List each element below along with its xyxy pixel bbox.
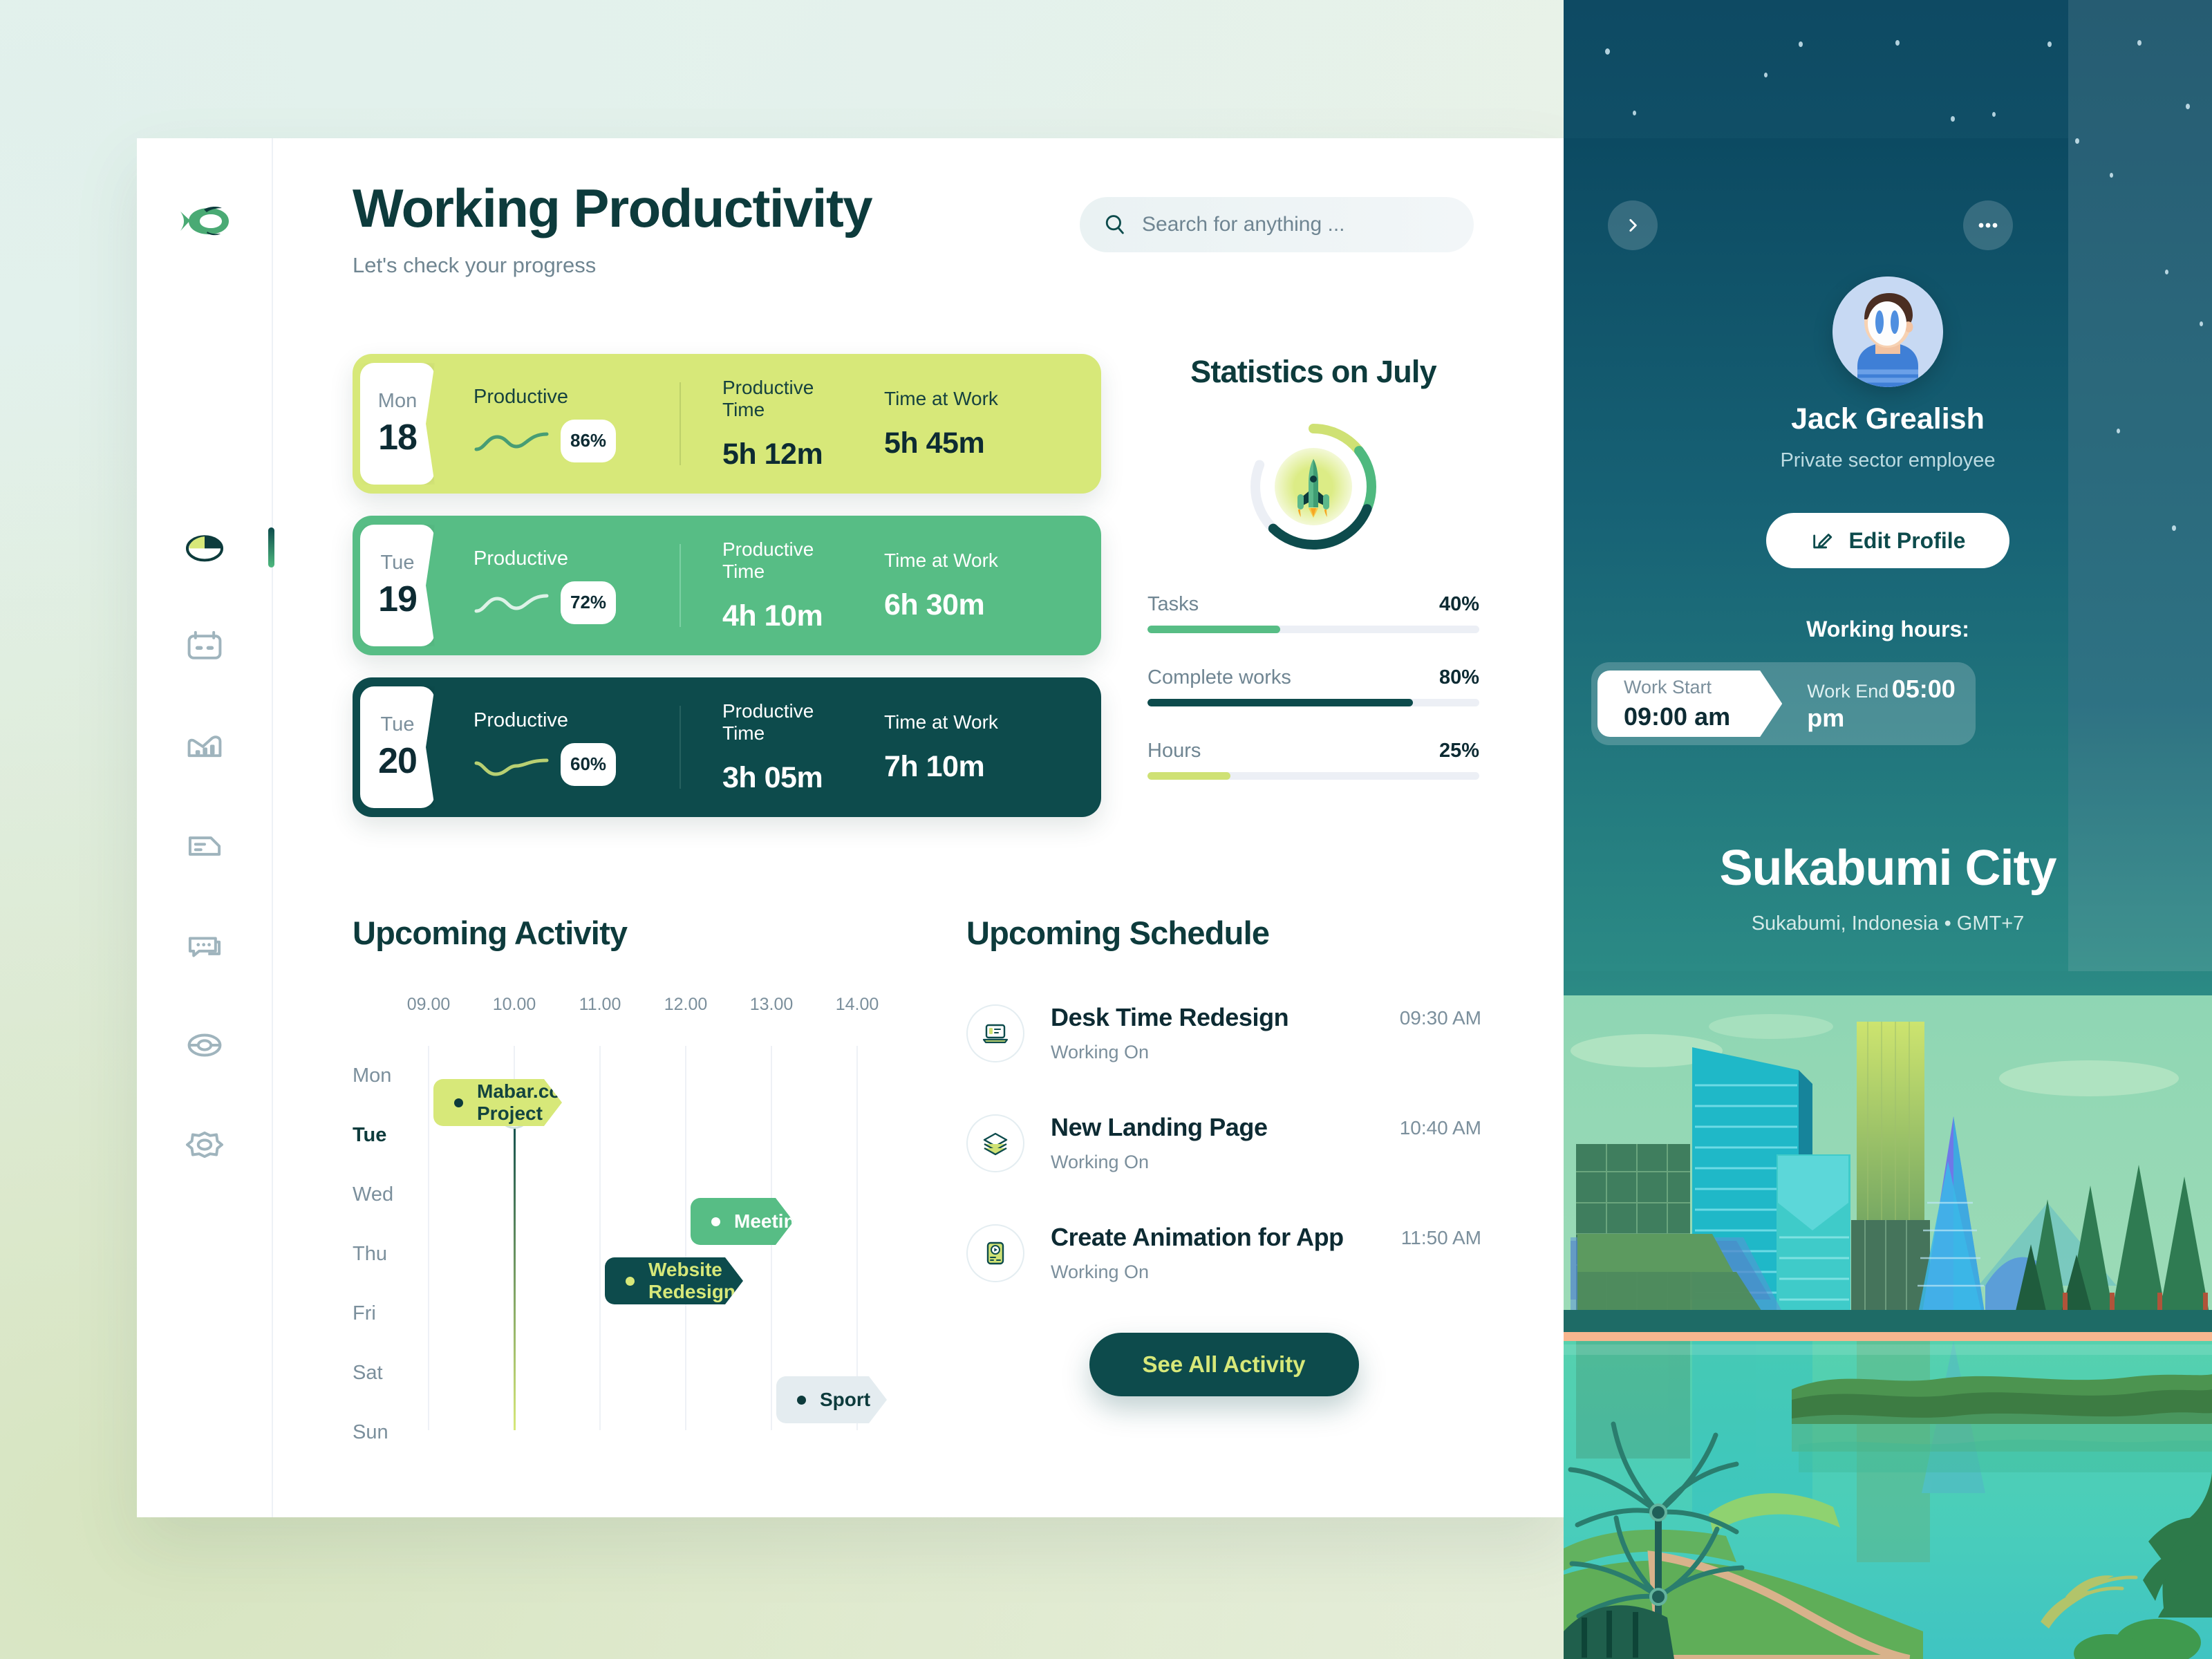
- progress-track: [1147, 699, 1479, 706]
- productive-percent: 72%: [561, 581, 616, 624]
- rocket-icon: [1288, 456, 1339, 518]
- profile-role: Private sector employee: [1564, 449, 2212, 472]
- page-header: Working Productivity Let's check your pr…: [353, 181, 872, 278]
- schedule-item-time: 10:40 AM: [1400, 1117, 1481, 1139]
- fish-logo[interactable]: [179, 202, 230, 244]
- activity-title: Upcoming Activity: [353, 914, 975, 952]
- search-placeholder: Search for anything ...: [1142, 213, 1345, 236]
- profile-name: Jack Grealish: [1564, 402, 2212, 436]
- stat-bar-percent: 25%: [1439, 740, 1479, 762]
- timeline-day: Fri: [353, 1284, 422, 1343]
- card-divider: [679, 544, 681, 627]
- event-dot: [711, 1217, 720, 1226]
- schedule-item-status: Working On: [1051, 1152, 1400, 1173]
- page-subtitle: Let's check your progress: [353, 253, 872, 278]
- event-dot: [626, 1277, 635, 1286]
- productive-label: Productive: [474, 547, 674, 570]
- sidebar-item-dashboard[interactable]: [137, 498, 272, 597]
- event-label: Sport: [820, 1389, 870, 1411]
- progress-fill: [1147, 626, 1280, 633]
- sidebar-item-reports[interactable]: [137, 697, 272, 796]
- day-number: 20: [378, 740, 417, 782]
- activity-timeline: 09.00 10.00 11.00 12.00 13.00 14.00 Mon …: [353, 995, 975, 1430]
- time-at-work-label: Time at Work: [884, 711, 998, 733]
- statistics-bars: Tasks 40% Complete works 80% Hours 25%: [1147, 593, 1479, 780]
- work-start-block[interactable]: Work Start 09:00 am: [1597, 671, 1782, 737]
- timeline-tick: 10.00: [493, 995, 536, 1015]
- upcoming-schedule-section: Upcoming Schedule Desk Time Redesign Wor…: [966, 914, 1481, 1396]
- productive-time-label: Productive Time: [722, 700, 861, 744]
- timeline-day: Wed: [353, 1165, 422, 1224]
- timeline-tick: 11.00: [579, 995, 621, 1015]
- video-icon: [966, 1224, 1024, 1282]
- more-options-button[interactable]: [1963, 200, 2013, 250]
- sidebar-nav: [137, 498, 272, 1194]
- schedule-list: Desk Time Redesign Working On 09:30 AM N…: [966, 1003, 1481, 1283]
- timeline-day-labels: Mon Tue Wed Thu Fri Sat Sun: [353, 1046, 422, 1462]
- day-badge: Mon 18: [360, 363, 435, 485]
- day-card[interactable]: Tue 20 Productive 60% Productive Time 3h…: [353, 677, 1101, 817]
- productive-block: Productive 86%: [474, 386, 674, 462]
- edit-profile-button[interactable]: Edit Profile: [1766, 513, 2009, 568]
- work-start-value: 09:00 am: [1624, 702, 1782, 731]
- upcoming-activity-section: Upcoming Activity 09.00 10.00 11.00 12.0…: [353, 914, 975, 1430]
- activity-event[interactable]: Meeting: [691, 1198, 794, 1245]
- productive-label: Productive: [474, 709, 674, 732]
- timeline-day: Sun: [353, 1403, 422, 1462]
- working-hours-label: Working hours:: [1564, 617, 2212, 642]
- timeline-tick: 14.00: [836, 995, 879, 1015]
- timeline-tick: 13.00: [750, 995, 794, 1015]
- edit-profile-label: Edit Profile: [1849, 528, 1966, 554]
- work-start-label: Work Start: [1624, 677, 1782, 698]
- stat-bar-hours: Hours 25%: [1147, 740, 1479, 780]
- day-card[interactable]: Tue 19 Productive 72% Productive Time 4h…: [353, 516, 1101, 655]
- sidebar-item-calendar[interactable]: [137, 597, 272, 697]
- current-time-marker-line: [514, 1112, 516, 1430]
- stat-bar-tasks: Tasks 40%: [1147, 593, 1479, 633]
- schedule-item-time: 11:50 AM: [1401, 1227, 1481, 1249]
- stat-bar-complete-works: Complete works 80%: [1147, 666, 1479, 706]
- time-at-work-value: 5h 45m: [884, 427, 998, 460]
- day-weekday: Mon: [378, 390, 417, 413]
- timeline-day: Sat: [353, 1343, 422, 1403]
- card-divider: [679, 382, 681, 465]
- time-at-work-block: Time at Work 5h 45m: [884, 388, 998, 460]
- productive-block: Productive 72%: [474, 547, 674, 624]
- time-at-work-value: 6h 30m: [884, 588, 998, 622]
- timeline-day: Mon: [353, 1046, 422, 1105]
- productive-time-value: 4h 10m: [722, 599, 861, 633]
- chat-icon: [185, 926, 225, 966]
- chevron-right-icon: [1624, 216, 1642, 234]
- avatar[interactable]: [1833, 276, 1943, 387]
- event-label: Website Redesign: [648, 1259, 743, 1303]
- day-weekday: Tue: [381, 552, 415, 574]
- sidebar-item-settings[interactable]: [137, 1095, 272, 1194]
- statistics-donut-chart: [1247, 420, 1380, 553]
- city-illustration: [1564, 995, 2212, 1659]
- day-badge: Tue 19: [360, 525, 435, 646]
- schedule-item[interactable]: New Landing Page Working On 10:40 AM: [966, 1113, 1481, 1173]
- productive-time-block: Productive Time 4h 10m: [722, 538, 861, 633]
- schedule-item-title: Desk Time Redesign: [1051, 1003, 1400, 1032]
- sidebar: [137, 138, 273, 1517]
- activity-event[interactable]: Mabar.co Project: [433, 1079, 562, 1126]
- working-hours-card: Work Start 09:00 am Work End 05:00 pm: [1591, 662, 1976, 745]
- timeline-day: Tue: [353, 1105, 422, 1165]
- statistics-panel: Statistics on July: [1147, 354, 1479, 813]
- activity-event[interactable]: Website Redesign: [605, 1257, 743, 1304]
- time-at-work-label: Time at Work: [884, 388, 998, 410]
- schedule-item-status: Working On: [1051, 1262, 1401, 1283]
- stat-bar-label: Hours: [1147, 740, 1201, 762]
- stat-bar-percent: 80%: [1439, 666, 1479, 689]
- schedule-item-status: Working On: [1051, 1042, 1400, 1063]
- sidebar-item-support[interactable]: [137, 995, 272, 1095]
- search-input[interactable]: Search for anything ...: [1080, 197, 1474, 252]
- sidebar-item-documents[interactable]: [137, 796, 272, 896]
- productive-time-value: 5h 12m: [722, 438, 861, 471]
- progress-track: [1147, 772, 1479, 780]
- more-dots-icon: [1978, 222, 1998, 229]
- timeline-day: Thu: [353, 1224, 422, 1284]
- card-divider: [679, 706, 681, 789]
- schedule-title: Upcoming Schedule: [966, 914, 1481, 952]
- page-title: Working Productivity: [353, 181, 872, 235]
- pie-chart-icon: [185, 527, 225, 568]
- bar-chart-icon: [185, 727, 225, 767]
- productive-label: Productive: [474, 386, 674, 409]
- day-card[interactable]: Mon 18 Productive 86% Productive Time 5h…: [353, 354, 1101, 494]
- panel-overlay: [2068, 0, 2212, 971]
- city-name: Sukabumi City: [1564, 840, 2212, 897]
- event-label: Mabar.co Project: [477, 1080, 562, 1125]
- time-at-work-block: Time at Work 7h 10m: [884, 711, 998, 784]
- progress-fill: [1147, 699, 1413, 706]
- productive-time-label: Productive Time: [722, 377, 861, 421]
- layers-icon: [966, 1114, 1024, 1172]
- target-icon: [185, 1025, 225, 1065]
- schedule-item[interactable]: Desk Time Redesign Working On 09:30 AM: [966, 1003, 1481, 1063]
- schedule-item-time: 09:30 AM: [1400, 1007, 1481, 1029]
- laptop-icon: [966, 1004, 1024, 1062]
- stat-bar-percent: 40%: [1439, 593, 1479, 616]
- timeline-tick: 09.00: [407, 995, 451, 1015]
- work-end-block[interactable]: Work End 05:00 pm: [1807, 675, 1976, 733]
- event-dot: [797, 1396, 806, 1405]
- stat-bar-label: Complete works: [1147, 666, 1291, 689]
- time-at-work-value: 7h 10m: [884, 750, 998, 784]
- productive-percent: 60%: [561, 743, 616, 786]
- event-dot: [454, 1098, 463, 1107]
- timeline-axis: 09.00 10.00 11.00 12.00 13.00 14.00: [353, 995, 975, 1027]
- activity-event[interactable]: Sport: [776, 1376, 887, 1423]
- productive-time-block: Productive Time 5h 12m: [722, 377, 861, 471]
- sparkline-icon: [474, 749, 550, 780]
- search-icon: [1103, 213, 1127, 236]
- see-all-activity-button[interactable]: See All Activity: [1089, 1333, 1359, 1396]
- time-at-work-label: Time at Work: [884, 550, 998, 572]
- sparkline-icon: [474, 426, 550, 456]
- settings-gear-icon: [185, 1125, 225, 1165]
- profile-panel: Jack Grealish Private sector employee Ed…: [1564, 0, 2212, 1659]
- sidebar-item-messages[interactable]: [137, 896, 272, 995]
- progress-fill: [1147, 772, 1230, 780]
- city-subtitle: Sukabumi, Indonesia • GMT+7: [1564, 912, 2212, 935]
- statistics-title: Statistics on July: [1147, 354, 1479, 390]
- schedule-item-title: New Landing Page: [1051, 1113, 1400, 1142]
- day-cards: Mon 18 Productive 86% Productive Time 5h…: [353, 354, 1101, 839]
- work-end-label: Work End: [1807, 681, 1888, 702]
- day-number: 18: [378, 417, 417, 458]
- schedule-item-title: Create Animation for App: [1051, 1223, 1401, 1252]
- sparkline-icon: [474, 588, 550, 618]
- productive-block: Productive 60%: [474, 709, 674, 786]
- document-icon: [185, 826, 225, 866]
- day-badge: Tue 20: [360, 686, 435, 808]
- day-number: 19: [378, 579, 417, 620]
- productive-time-block: Productive Time 3h 05m: [722, 700, 861, 795]
- progress-track: [1147, 626, 1479, 633]
- active-indicator: [268, 527, 274, 568]
- productive-percent: 86%: [561, 420, 616, 462]
- productive-time-value: 3h 05m: [722, 761, 861, 795]
- edit-pencil-icon: [1810, 529, 1834, 552]
- timeline-tick: 12.00: [664, 995, 708, 1015]
- schedule-item[interactable]: Create Animation for App Working On 11:5…: [966, 1223, 1481, 1283]
- calendar-icon: [185, 627, 225, 667]
- stat-bar-label: Tasks: [1147, 593, 1199, 616]
- day-weekday: Tue: [381, 713, 415, 736]
- time-at-work-block: Time at Work 6h 30m: [884, 550, 998, 622]
- next-button[interactable]: [1608, 200, 1658, 250]
- productive-time-label: Productive Time: [722, 538, 861, 583]
